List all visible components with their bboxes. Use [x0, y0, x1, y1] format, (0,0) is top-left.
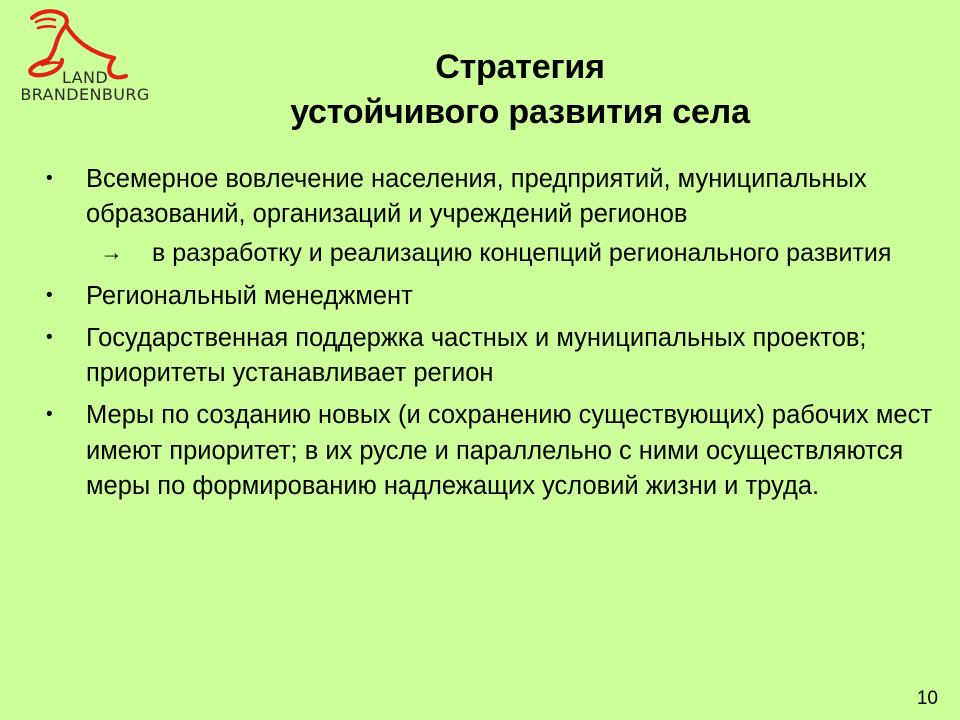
page-number: 10: [917, 688, 938, 710]
slide-body: • Всемерное вовлечение населения, предпр…: [38, 162, 938, 511]
land-brandenburg-logo: LAND BRANDENBURG: [10, 6, 160, 118]
bullet-text: Государственная поддержка частных и муни…: [86, 321, 938, 391]
bullet-marker-dot: •: [38, 321, 86, 355]
bullet-text: Региональный менеджмент: [86, 279, 938, 314]
logo-wordmark: LAND BRANDENBURG: [10, 70, 160, 104]
bullet-item: • Государственная поддержка частных и му…: [38, 321, 938, 391]
bullet-text: Меры по созданию новых (и сохранению сущ…: [86, 398, 938, 504]
bullet-item: • Региональный менеджмент: [38, 279, 938, 314]
bullet-marker-dot: •: [38, 398, 86, 432]
bullet-item: • Всемерное вовлечение населения, предпр…: [38, 162, 938, 232]
slide-title-line-1: Стратегия: [170, 45, 870, 90]
arrow-right-icon: →: [100, 236, 152, 269]
logo-line-brandenburg: BRANDENBURG: [10, 87, 160, 104]
slide: LAND BRANDENBURG Стратегия устойчивого р…: [0, 0, 960, 720]
bullet-item: • Меры по созданию новых (и сохранению с…: [38, 398, 938, 504]
slide-title: Стратегия устойчивого развития села: [170, 45, 870, 135]
bullet-marker-dot: •: [38, 162, 86, 196]
sub-bullet-text: в разработку и реализацию концепций реги…: [152, 236, 935, 271]
slide-title-line-2: устойчивого развития села: [170, 90, 870, 135]
sub-bullet-item: → в разработку и реализацию концепций ре…: [100, 236, 935, 271]
bullet-marker-dot: •: [38, 279, 86, 313]
bullet-text: Всемерное вовлечение населения, предприя…: [86, 162, 938, 232]
